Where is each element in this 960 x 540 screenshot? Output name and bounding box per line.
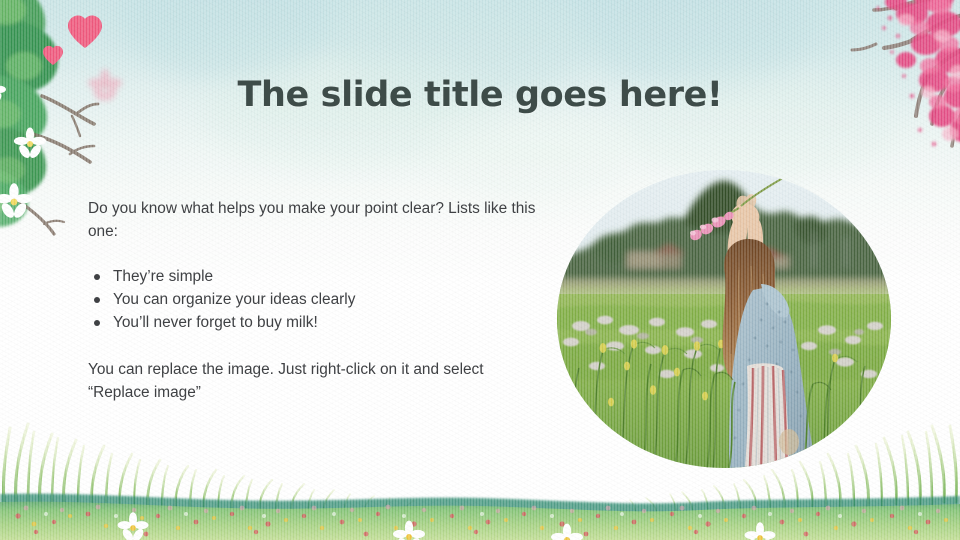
list-item[interactable]: You can organize your ideas clearly bbox=[88, 288, 540, 311]
closing-paragraph[interactable]: You can replace the image. Just right-cl… bbox=[88, 358, 540, 404]
intro-paragraph[interactable]: Do you know what helps you make your poi… bbox=[88, 197, 540, 243]
list-item-label: You’ll never forget to buy milk! bbox=[113, 314, 318, 331]
list-item-label: You can organize your ideas clearly bbox=[113, 291, 355, 308]
list-item[interactable]: You’ll never forget to buy milk! bbox=[88, 311, 540, 334]
bullet-dot-icon bbox=[94, 274, 100, 280]
slide-title[interactable]: The slide title goes here! bbox=[0, 75, 960, 115]
bullet-list: They’re simple You can organize your ide… bbox=[88, 265, 540, 334]
slide-canvas: The slide title goes here! Do you know w… bbox=[0, 0, 960, 540]
list-item[interactable]: They’re simple bbox=[88, 265, 540, 288]
sky-blotch bbox=[430, 110, 630, 200]
replaceable-image[interactable] bbox=[557, 170, 891, 468]
list-item-label: They’re simple bbox=[113, 268, 213, 285]
bullet-dot-icon bbox=[94, 320, 100, 326]
slide-body-text: Do you know what helps you make your poi… bbox=[88, 197, 540, 404]
bullet-dot-icon bbox=[94, 297, 100, 303]
